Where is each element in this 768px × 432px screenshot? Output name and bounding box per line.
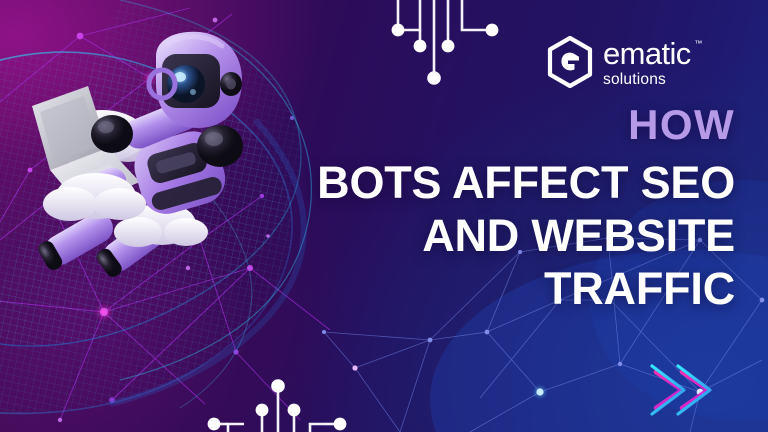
headline-line-1: BOTS AFFECT SEO — [215, 156, 735, 209]
logo-wordmark: ematic™ — [603, 38, 691, 69]
headline-title: BOTS AFFECT SEO AND WEBSITE TRAFFIC — [215, 156, 735, 315]
ematic-solutions-logo[interactable]: ematic™ solutions — [546, 36, 691, 88]
hero-banner: ematic™ solutions HOW BOTS AFFECT SEO AN… — [0, 0, 768, 432]
headline-line-2: AND WEBSITE — [215, 209, 735, 262]
trademark-symbol: ™ — [694, 40, 701, 48]
hexagon-e-icon — [546, 36, 594, 88]
headline-eyebrow: HOW — [215, 104, 735, 147]
logo-tagline: solutions — [603, 72, 691, 88]
logo-wordmark-text: ematic — [603, 36, 691, 71]
headline-line-3: TRAFFIC — [215, 262, 735, 315]
logo-wordmark-group: ematic™ solutions — [603, 36, 691, 88]
headline-block: HOW BOTS AFFECT SEO AND WEBSITE TRAFFIC — [215, 104, 735, 315]
